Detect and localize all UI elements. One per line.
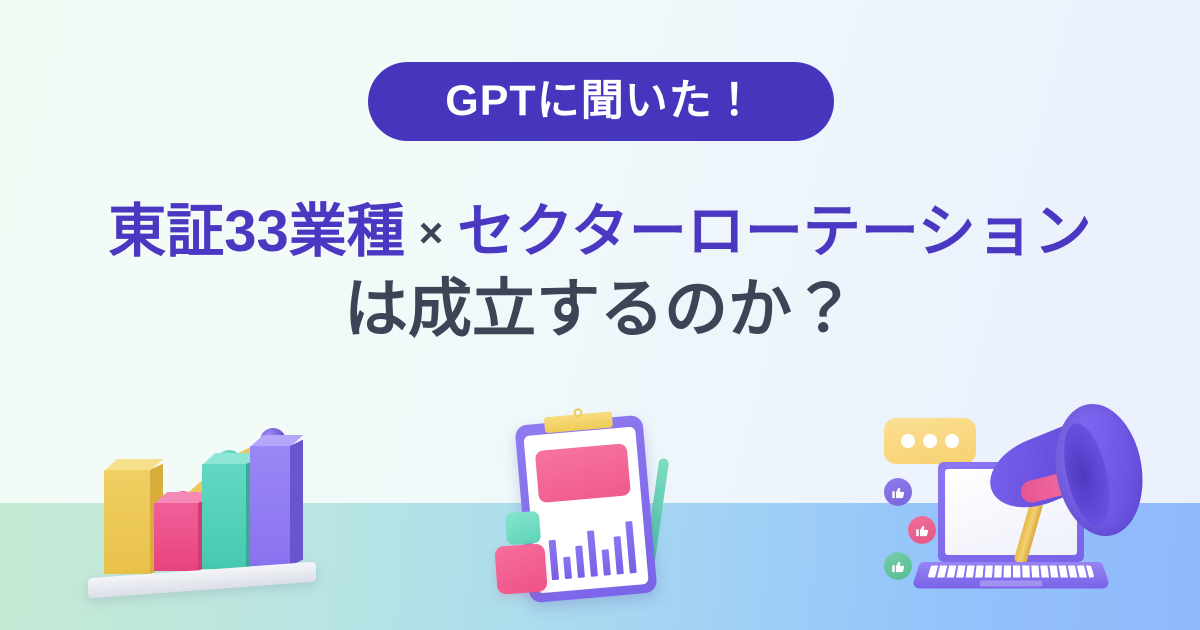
report-header-block [535,443,631,503]
headline-line-1: 東証33業種×セクターローテーション [0,198,1200,266]
mini-bar [625,521,637,573]
megaphone-illustration [870,400,1160,615]
cross-separator-icon: × [405,209,458,256]
bar-front-face [104,470,150,574]
headline-segment-rotation: セクターローテーション [457,199,1092,264]
laptop-keyboard [911,562,1110,589]
og-image-canvas: GPTに聞いた！ 東証33業種×セクターローテーション は成立するのか？ [0,0,1200,630]
bubble-dot [901,434,915,448]
badge-label: GPTに聞いた！ [445,80,756,123]
mini-bar [602,549,611,576]
bubble-dot [945,434,959,448]
laptop-keys [928,566,1095,578]
bar-front-face [202,464,246,569]
bar-chart-illustration [70,398,330,618]
report-mini-bar-chart [547,509,642,581]
bubble-dot [923,434,937,448]
mini-bar [575,545,585,577]
sticky-note-pink [494,543,547,594]
clipboard-illustration [500,410,700,620]
headline-line-2: は成立するのか？ [0,272,1200,348]
chart-bar-2 [154,503,198,571]
chart-bar-1 [104,470,150,574]
thumbs-up-icon-pink [908,516,936,544]
mini-bar [563,557,572,580]
headline-segment-sectors: 東証33業種 [108,199,405,264]
speech-bubble-icon [884,418,976,464]
badge-pill: GPTに聞いた！ [368,62,834,141]
thumbs-up-icon-green [884,552,912,580]
chart-bar-3 [202,464,246,569]
mini-bar [549,540,559,580]
bar-front-face [250,446,290,566]
sticky-note-teal [505,511,541,545]
laptop-trackpad [979,580,1042,586]
bar-front-face [154,503,198,571]
mini-bar [587,530,598,576]
headline-segment-question: は成立するのか？ [344,273,856,345]
chart-bar-4 [250,446,290,566]
page-title: 東証33業種×セクターローテーション は成立するのか？ [0,198,1200,348]
bar-side-face [290,440,303,566]
thumbs-up-icon-purple [884,478,912,506]
mini-bar [614,536,624,574]
